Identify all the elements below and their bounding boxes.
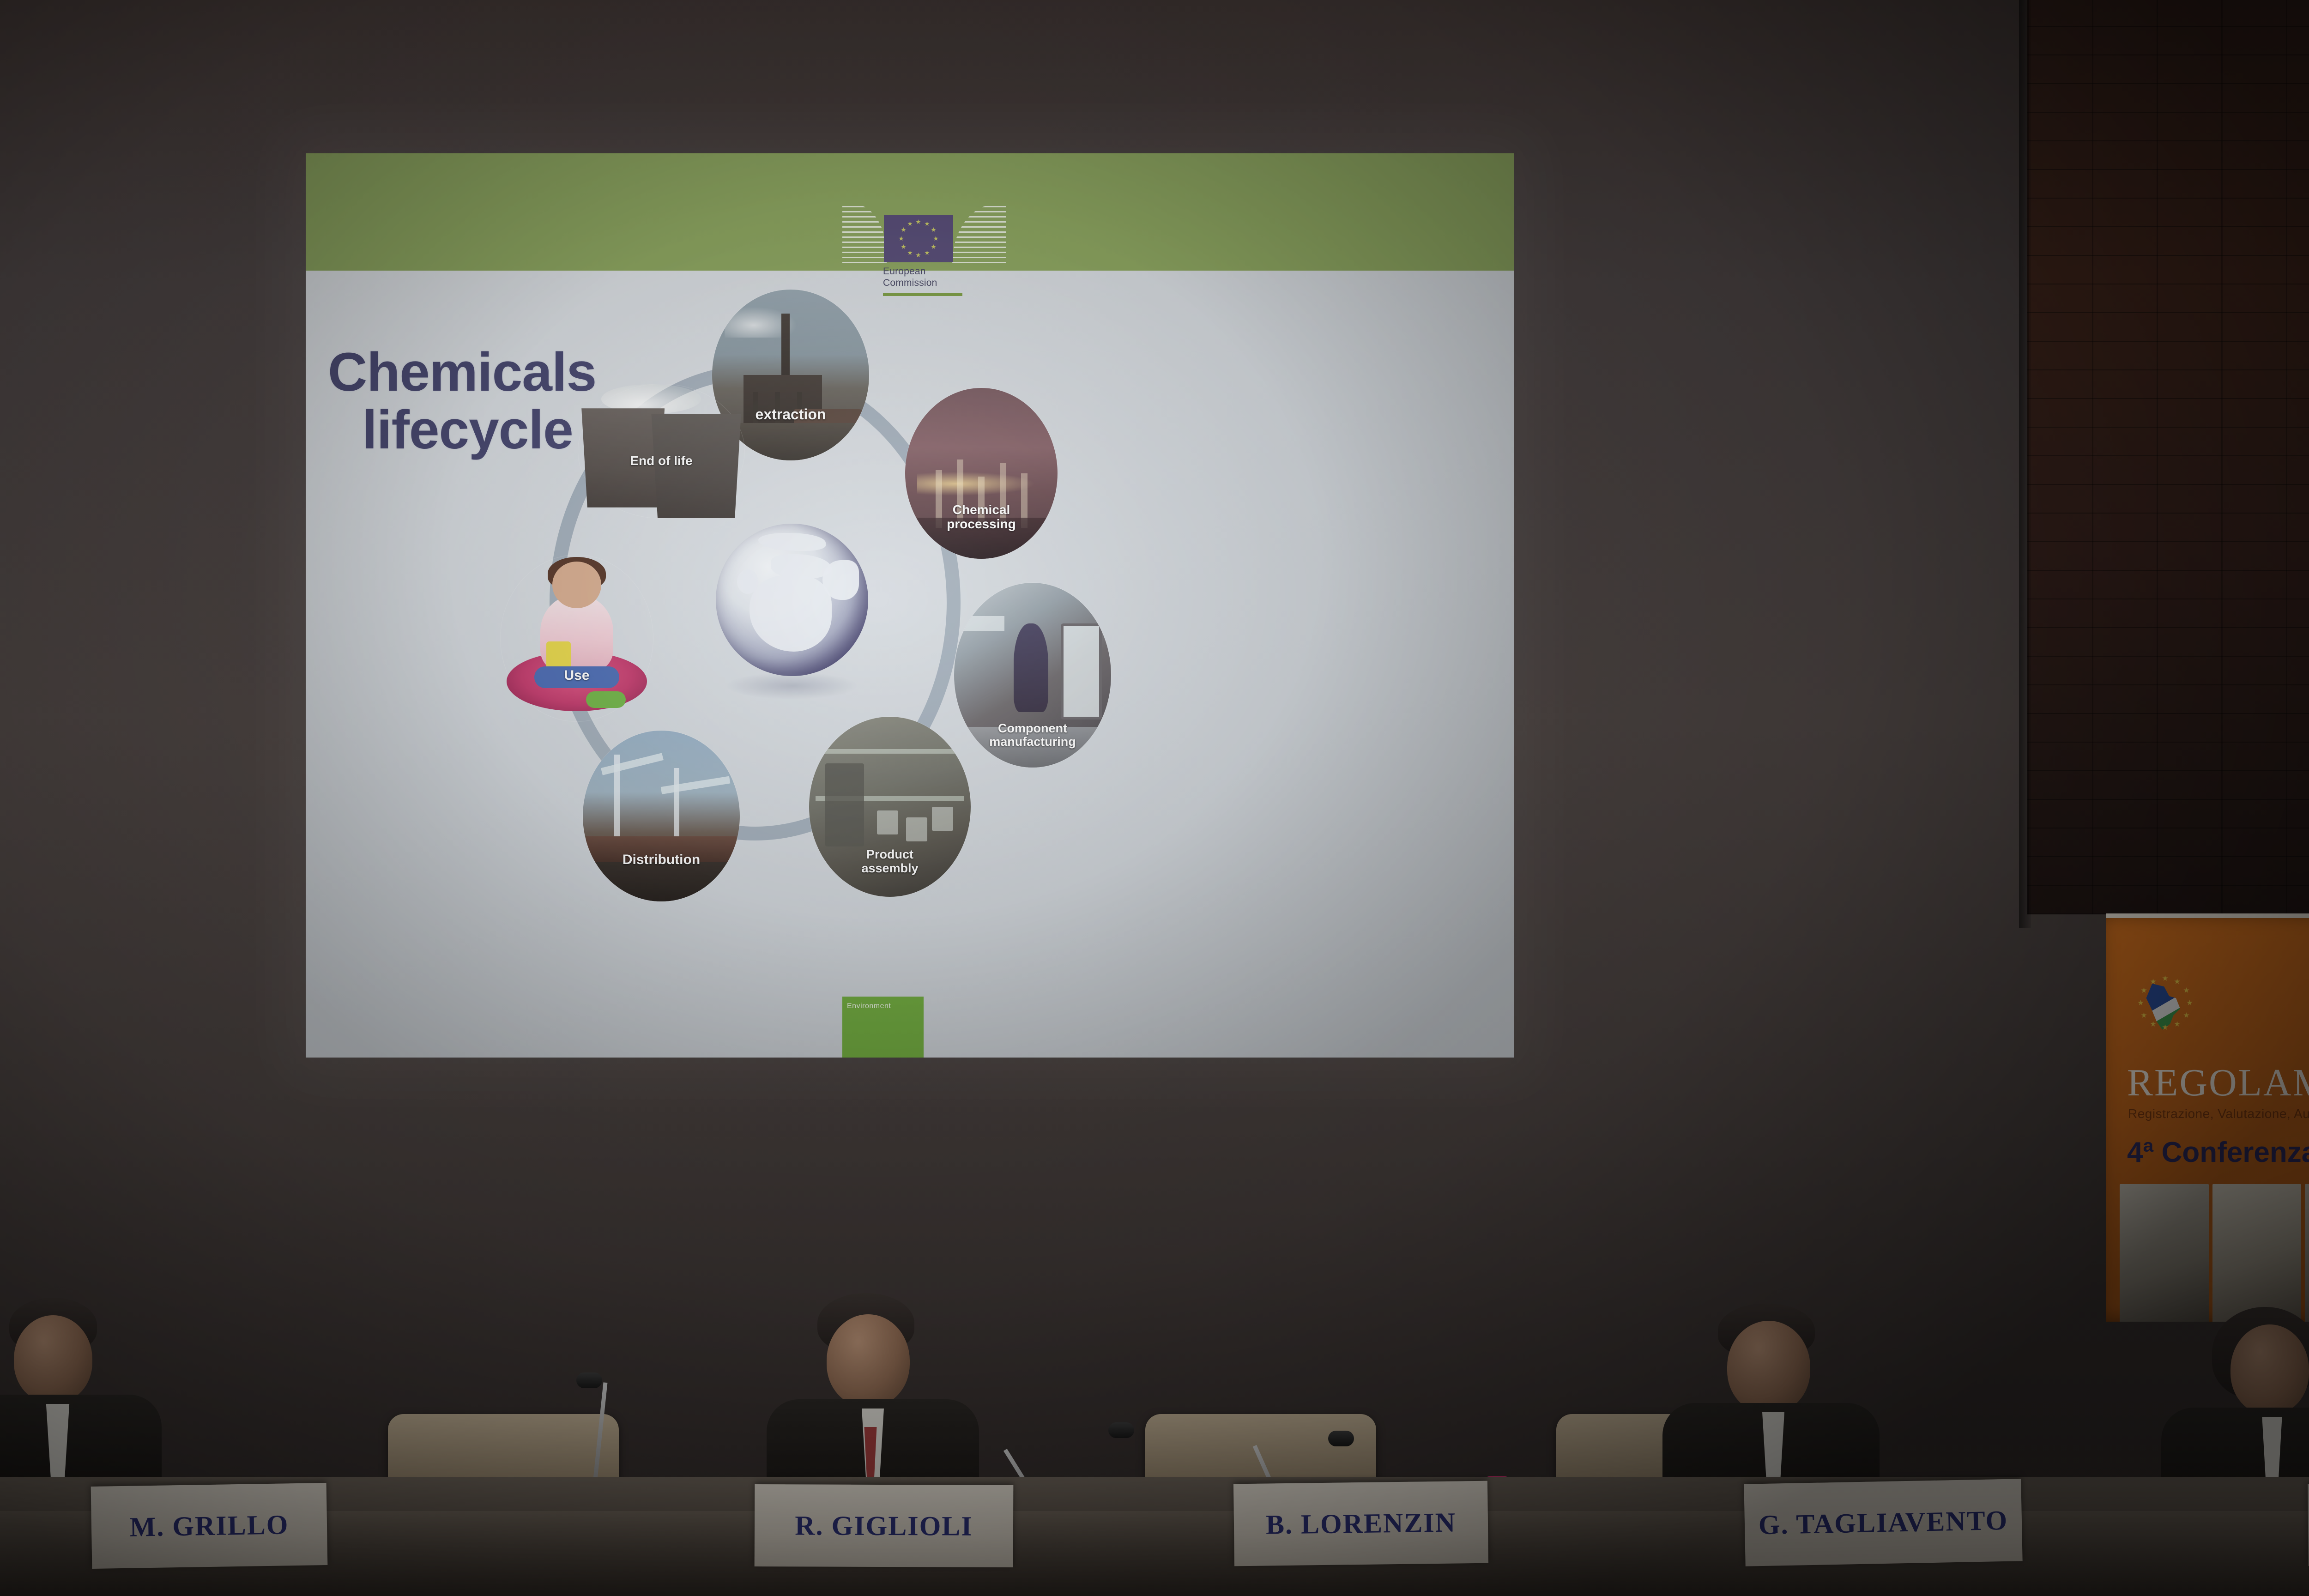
conference-photo-scene: European Commission Chemicals lifecycle bbox=[0, 0, 2309, 1596]
eu-logo-rule bbox=[883, 293, 962, 296]
nameplate-text: G. TAGLIAVENTO bbox=[1758, 1504, 2008, 1541]
eu-logo-line1: European bbox=[883, 266, 989, 278]
node-label-chemical-processing: Chemical processing bbox=[905, 503, 1058, 532]
banner-photo bbox=[2120, 1184, 2209, 1322]
eu-flag-icon bbox=[884, 215, 953, 262]
wall-edge bbox=[2019, 0, 2031, 928]
environment-block: Environment bbox=[842, 997, 924, 1058]
lifecycle-node-product-assembly[interactable]: Product assembly bbox=[809, 717, 971, 897]
globe-icon bbox=[716, 524, 868, 676]
factory-worker-icon bbox=[1014, 623, 1048, 712]
banner-subtitle: Registrazione, Valutazione, Autorizzazio… bbox=[2128, 1106, 2309, 1121]
nameplate: B. LORENZIN bbox=[1233, 1481, 1488, 1566]
machine-panel-icon bbox=[1061, 623, 1101, 719]
globe-graphic bbox=[716, 524, 868, 708]
nameplate-text: R. GIGLIOLI bbox=[795, 1510, 973, 1542]
derrick-icon bbox=[781, 314, 790, 382]
logo-wave-right-icon bbox=[952, 204, 1006, 263]
node-label-component-manufacturing: Component manufacturing bbox=[954, 722, 1111, 749]
banner-photo-strip bbox=[2120, 1184, 2309, 1322]
harbour-water-icon bbox=[583, 862, 740, 901]
eu-logo-text: European Commission bbox=[883, 266, 989, 289]
lifecycle-node-component-manufacturing[interactable]: Component manufacturing bbox=[954, 583, 1111, 768]
banner-photo bbox=[2212, 1184, 2302, 1322]
brick-wall bbox=[2027, 0, 2309, 914]
italy-eu-stars-logo-icon bbox=[2132, 973, 2201, 1043]
banner-photo bbox=[2305, 1184, 2309, 1322]
banner-conference-label: 4ª Conferenza naziona bbox=[2127, 1136, 2309, 1169]
microphone-head-icon bbox=[1108, 1422, 1134, 1438]
rollup-banner: REGOLAMENTO RE Registrazione, Valutazion… bbox=[2106, 913, 2309, 1322]
nameplate: M. GRILLO bbox=[91, 1483, 328, 1569]
lifecycle-node-use[interactable]: Use bbox=[501, 555, 653, 721]
node-label-use: Use bbox=[501, 668, 653, 683]
node-label-extraction: extraction bbox=[712, 406, 869, 423]
toy-green-bar-icon bbox=[586, 691, 626, 708]
nameplate: G. TAGLIAVENTO bbox=[1744, 1479, 2022, 1566]
projection-screen: European Commission Chemicals lifecycle bbox=[306, 153, 1514, 1058]
lifecycle-diagram: extraction Chemical processing bbox=[440, 287, 1197, 934]
globe-shadow bbox=[727, 672, 857, 699]
environment-label: Environment bbox=[847, 1002, 891, 1010]
nameplate: R. GIGLIOLI bbox=[755, 1484, 1014, 1567]
banner-top-edge bbox=[2106, 913, 2309, 918]
eu-logo-line2: Commission bbox=[883, 278, 989, 289]
microphone-head-icon bbox=[1328, 1431, 1354, 1446]
italy-map-icon bbox=[2144, 984, 2186, 1032]
microphone-head-icon bbox=[576, 1372, 602, 1388]
nameplate-text: B. LORENZIN bbox=[1266, 1506, 1457, 1541]
logo-wave-left-icon bbox=[842, 204, 887, 263]
european-commission-logo: European Commission bbox=[814, 171, 1008, 305]
node-label-end-of-life: End of life bbox=[578, 454, 744, 468]
node-label-distribution: Distribution bbox=[583, 852, 740, 867]
assembly-machine-icon bbox=[825, 763, 864, 846]
nameplate-text: M. GRILLO bbox=[129, 1509, 289, 1543]
lifecycle-node-chemical-processing[interactable]: Chemical processing bbox=[905, 388, 1058, 559]
child-head-icon bbox=[552, 562, 601, 608]
lifecycle-node-distribution[interactable]: Distribution bbox=[583, 731, 740, 901]
lifecycle-node-end-of-life[interactable]: End of life bbox=[578, 384, 744, 518]
banner-title: REGOLAMENTO RE bbox=[2127, 1060, 2309, 1105]
node-label-product-assembly: Product assembly bbox=[809, 848, 971, 875]
